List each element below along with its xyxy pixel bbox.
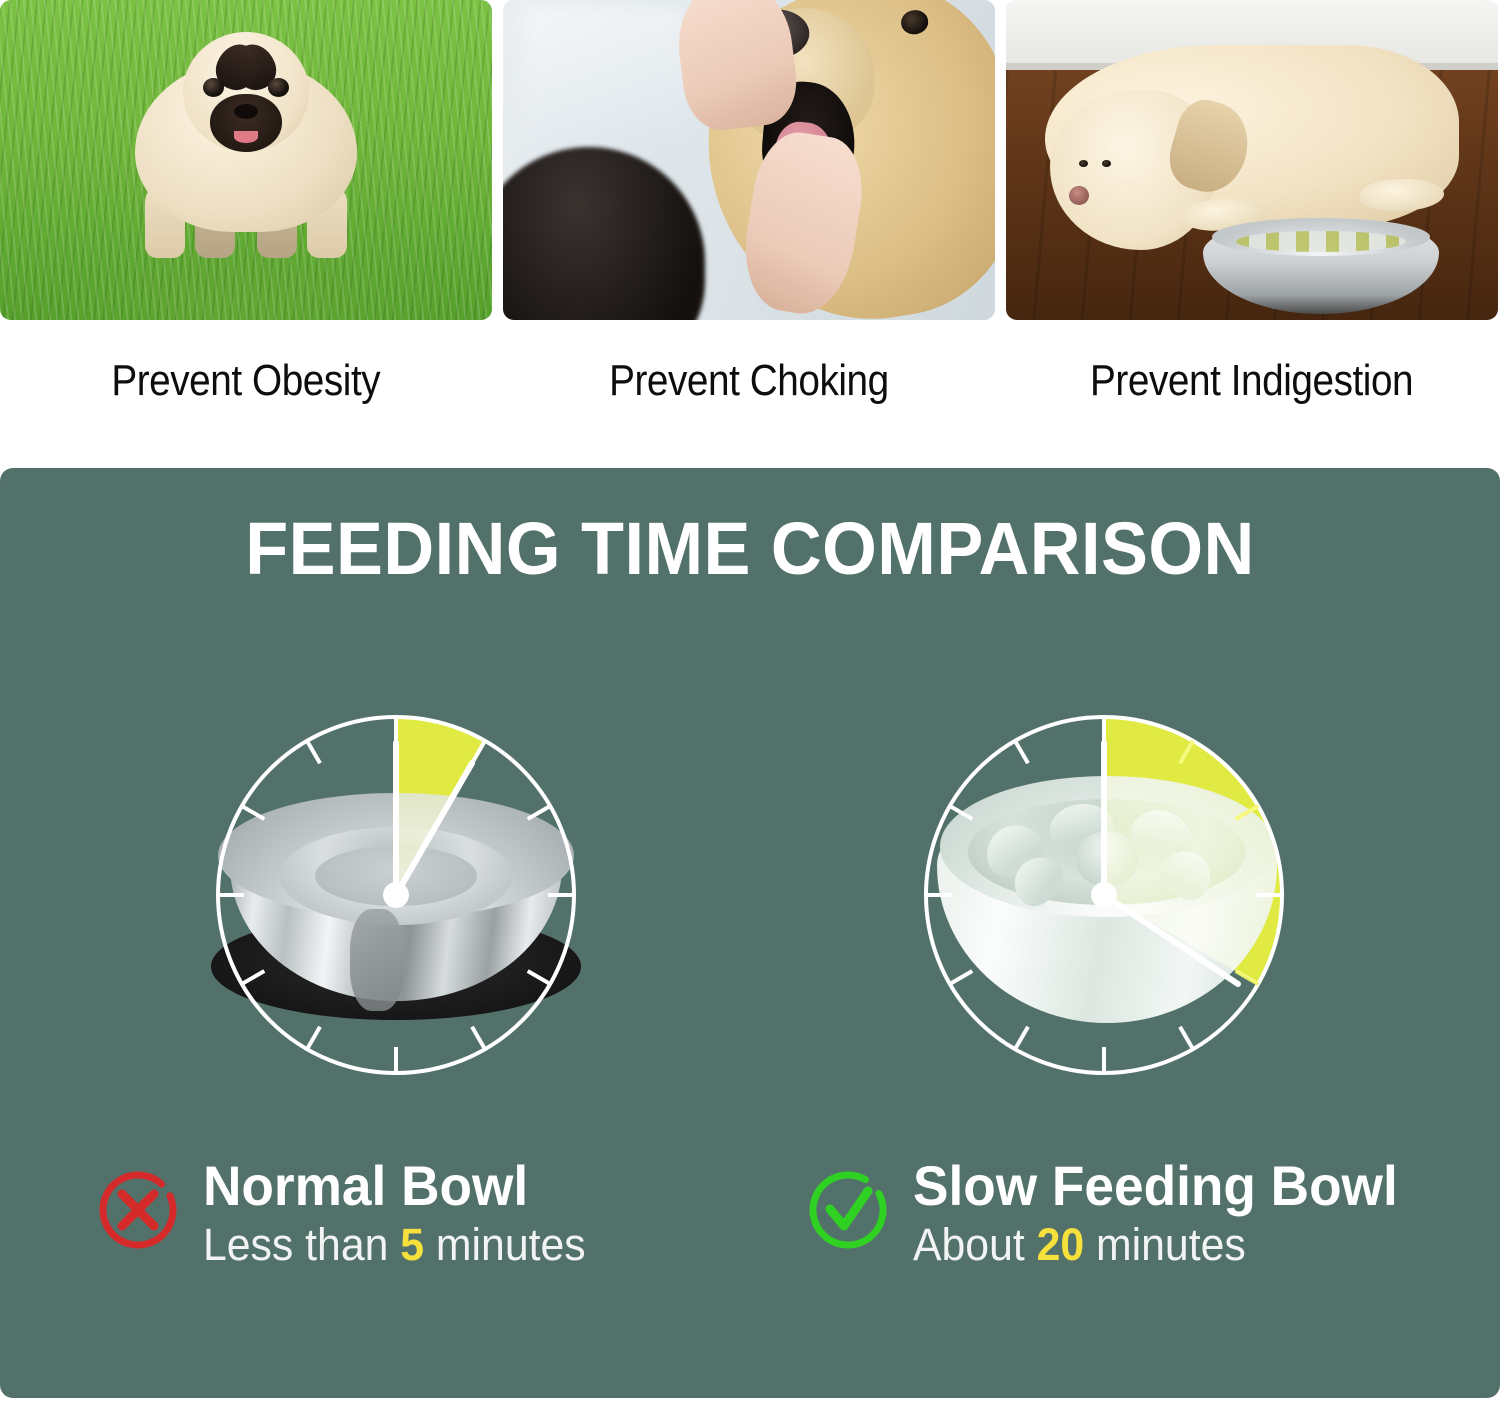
result-slow-bowl: Slow Feeding Bowl About 20 minutes <box>805 1158 1405 1267</box>
result-title-normal: Normal Bowl <box>203 1158 586 1214</box>
panel-title: FEEDING TIME COMPARISON <box>38 506 1463 591</box>
result-sub-suffix-normal: minutes <box>424 1219 586 1270</box>
slow-feeder-bowl <box>937 776 1277 1028</box>
dial-slow-bowl <box>889 680 1319 1110</box>
clock-slow-feeding-bowl <box>884 680 1324 1110</box>
clock-normal-bowl <box>176 680 616 1110</box>
benefit-caption-obesity: Prevent Obesity <box>112 356 381 406</box>
clock-dials-row <box>0 680 1500 1110</box>
benefit-card-choking: Prevent Choking <box>503 0 995 455</box>
result-sub-normal: Less than 5 minutes <box>203 1222 586 1267</box>
pug-illustration <box>121 16 371 266</box>
dial-normal-bowl <box>181 680 611 1110</box>
photo-lab-by-bowl <box>1006 0 1498 320</box>
feeding-time-comparison-panel: FEEDING TIME COMPARISON <box>0 468 1500 1398</box>
room-background <box>1006 0 1498 320</box>
results-row: Normal Bowl Less than 5 minutes Slow Fee… <box>0 1158 1500 1267</box>
result-normal-bowl: Normal Bowl Less than 5 minutes <box>95 1158 695 1267</box>
result-sub-slow: About 20 minutes <box>913 1222 1398 1267</box>
result-sub-suffix-slow: minutes <box>1084 1219 1246 1270</box>
benefit-caption-indigestion: Prevent Indigestion <box>1090 356 1413 406</box>
benefit-card-indigestion: Prevent Indigestion <box>1006 0 1498 455</box>
steel-bowl-photo <box>1203 218 1439 314</box>
benefits-strip: Prevent Obesity Prevent Choking <box>0 0 1500 455</box>
person-head <box>503 147 705 320</box>
result-sub-prefix-normal: Less than <box>203 1219 400 1270</box>
stainless-steel-bowl <box>203 788 589 1020</box>
circled-x-icon <box>95 1167 181 1258</box>
photo-dog-mouth-check <box>503 0 995 320</box>
result-sub-value-slow: 20 <box>1037 1219 1085 1270</box>
clinic-background <box>503 0 995 320</box>
result-sub-value-normal: 5 <box>400 1219 424 1270</box>
hand-upper <box>672 0 802 134</box>
result-sub-prefix-slow: About <box>913 1219 1037 1270</box>
photo-overweight-pug <box>0 0 492 320</box>
result-title-slow: Slow Feeding Bowl <box>913 1158 1398 1214</box>
circled-check-icon <box>805 1167 891 1258</box>
benefit-card-obesity: Prevent Obesity <box>0 0 492 455</box>
benefit-caption-choking: Prevent Choking <box>609 356 889 406</box>
